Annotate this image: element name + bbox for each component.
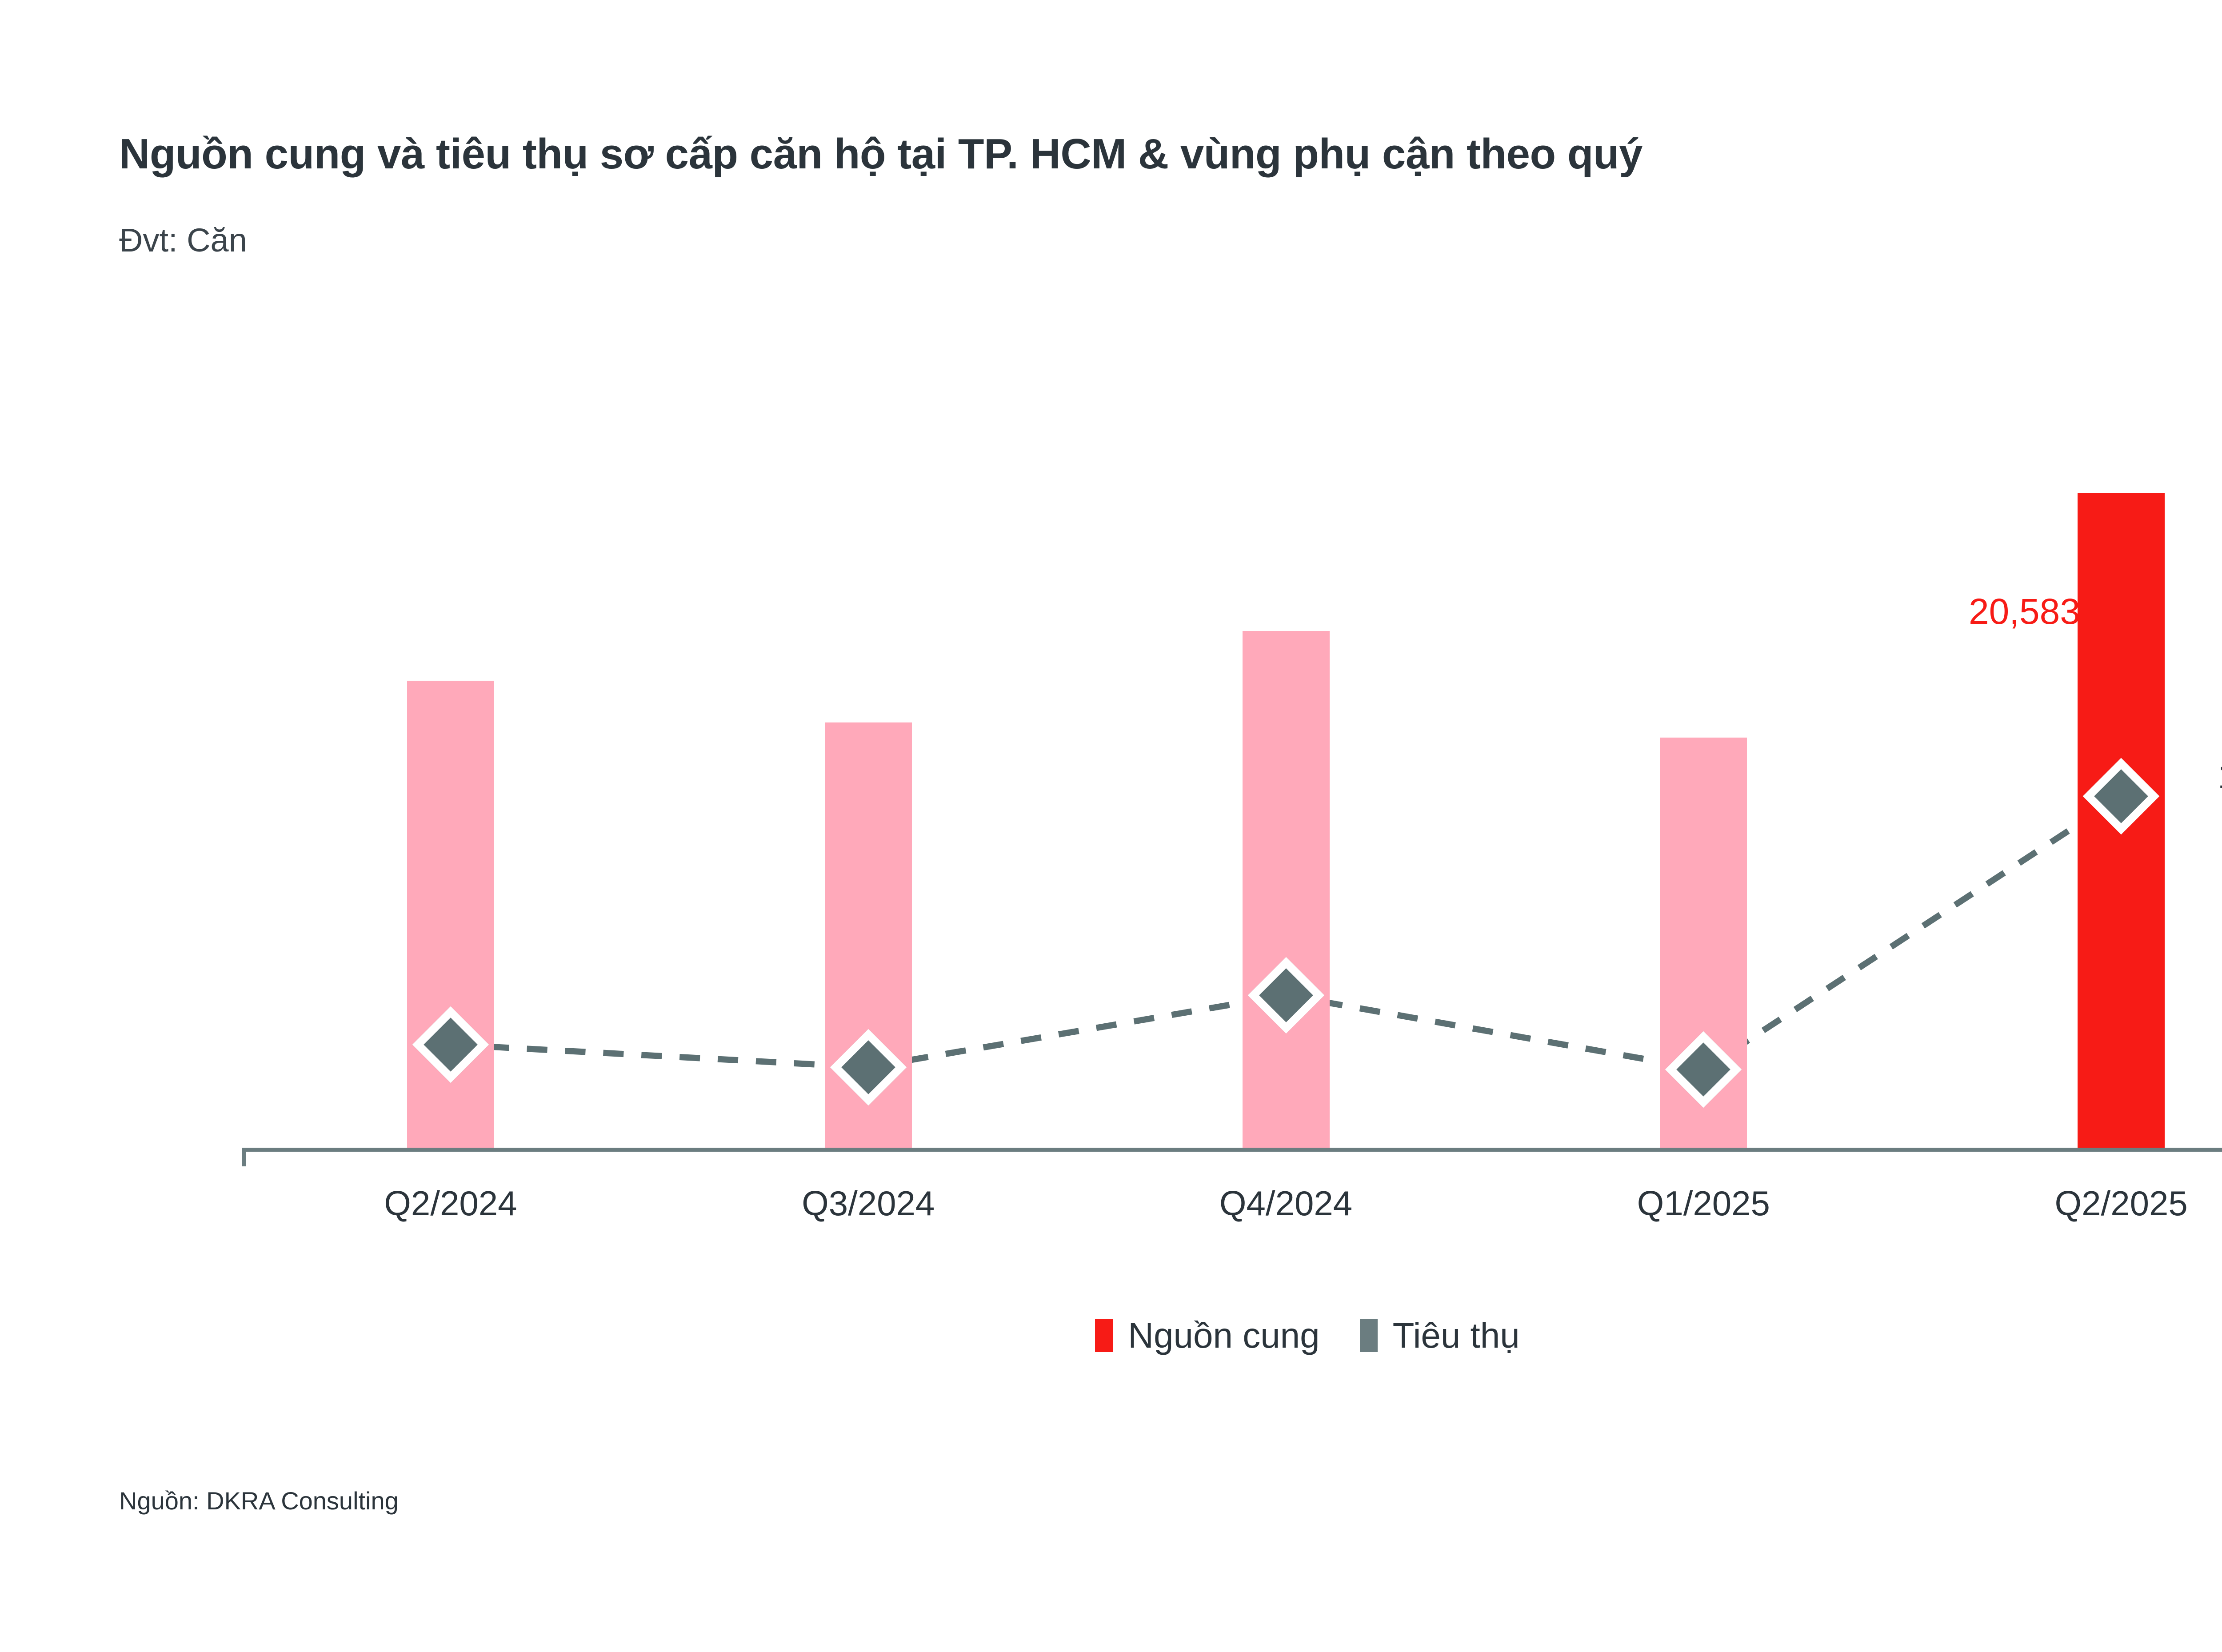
legend-item-supply[interactable]: Nguồn cung bbox=[1095, 1315, 1319, 1356]
chart-page: Nguồn cung và tiêu thụ sơ cấp căn hộ tại… bbox=[0, 0, 2222, 1652]
x-axis-line bbox=[242, 1148, 2222, 1152]
x-axis-label-Q2-2024: Q2/2024 bbox=[384, 1183, 517, 1224]
x-axis-label-Q4-2024: Q4/2024 bbox=[1219, 1183, 1352, 1224]
bar-supply-Q4-2024[interactable] bbox=[1243, 631, 1330, 1150]
absorption-line bbox=[0, 0, 2222, 1652]
supply-value-label: 20,583 bbox=[1969, 591, 2080, 633]
legend-swatch-supply-icon bbox=[1095, 1319, 1113, 1352]
x-axis-tick-left bbox=[242, 1148, 246, 1166]
absorption-value-label: 11,082 bbox=[2218, 755, 2222, 797]
legend-label-absorption: Tiêu thụ bbox=[1393, 1315, 1520, 1356]
chart-legend: Nguồn cung Tiêu thụ bbox=[0, 1315, 2222, 1356]
chart-plot-area: 20,583 11,082 Q2/2024Q3/2024Q4/2024Q1/20… bbox=[0, 0, 2222, 1652]
legend-swatch-absorption-icon bbox=[1360, 1319, 1378, 1352]
source-note: Nguồn: DKRA Consulting bbox=[119, 1486, 399, 1515]
x-axis-label-Q1-2025: Q1/2025 bbox=[1637, 1183, 1770, 1224]
legend-label-supply: Nguồn cung bbox=[1128, 1315, 1319, 1356]
x-axis-label-Q3-2024: Q3/2024 bbox=[802, 1183, 935, 1224]
x-axis-label-Q2-2025: Q2/2025 bbox=[2054, 1183, 2187, 1224]
legend-item-absorption[interactable]: Tiêu thụ bbox=[1360, 1315, 1520, 1356]
